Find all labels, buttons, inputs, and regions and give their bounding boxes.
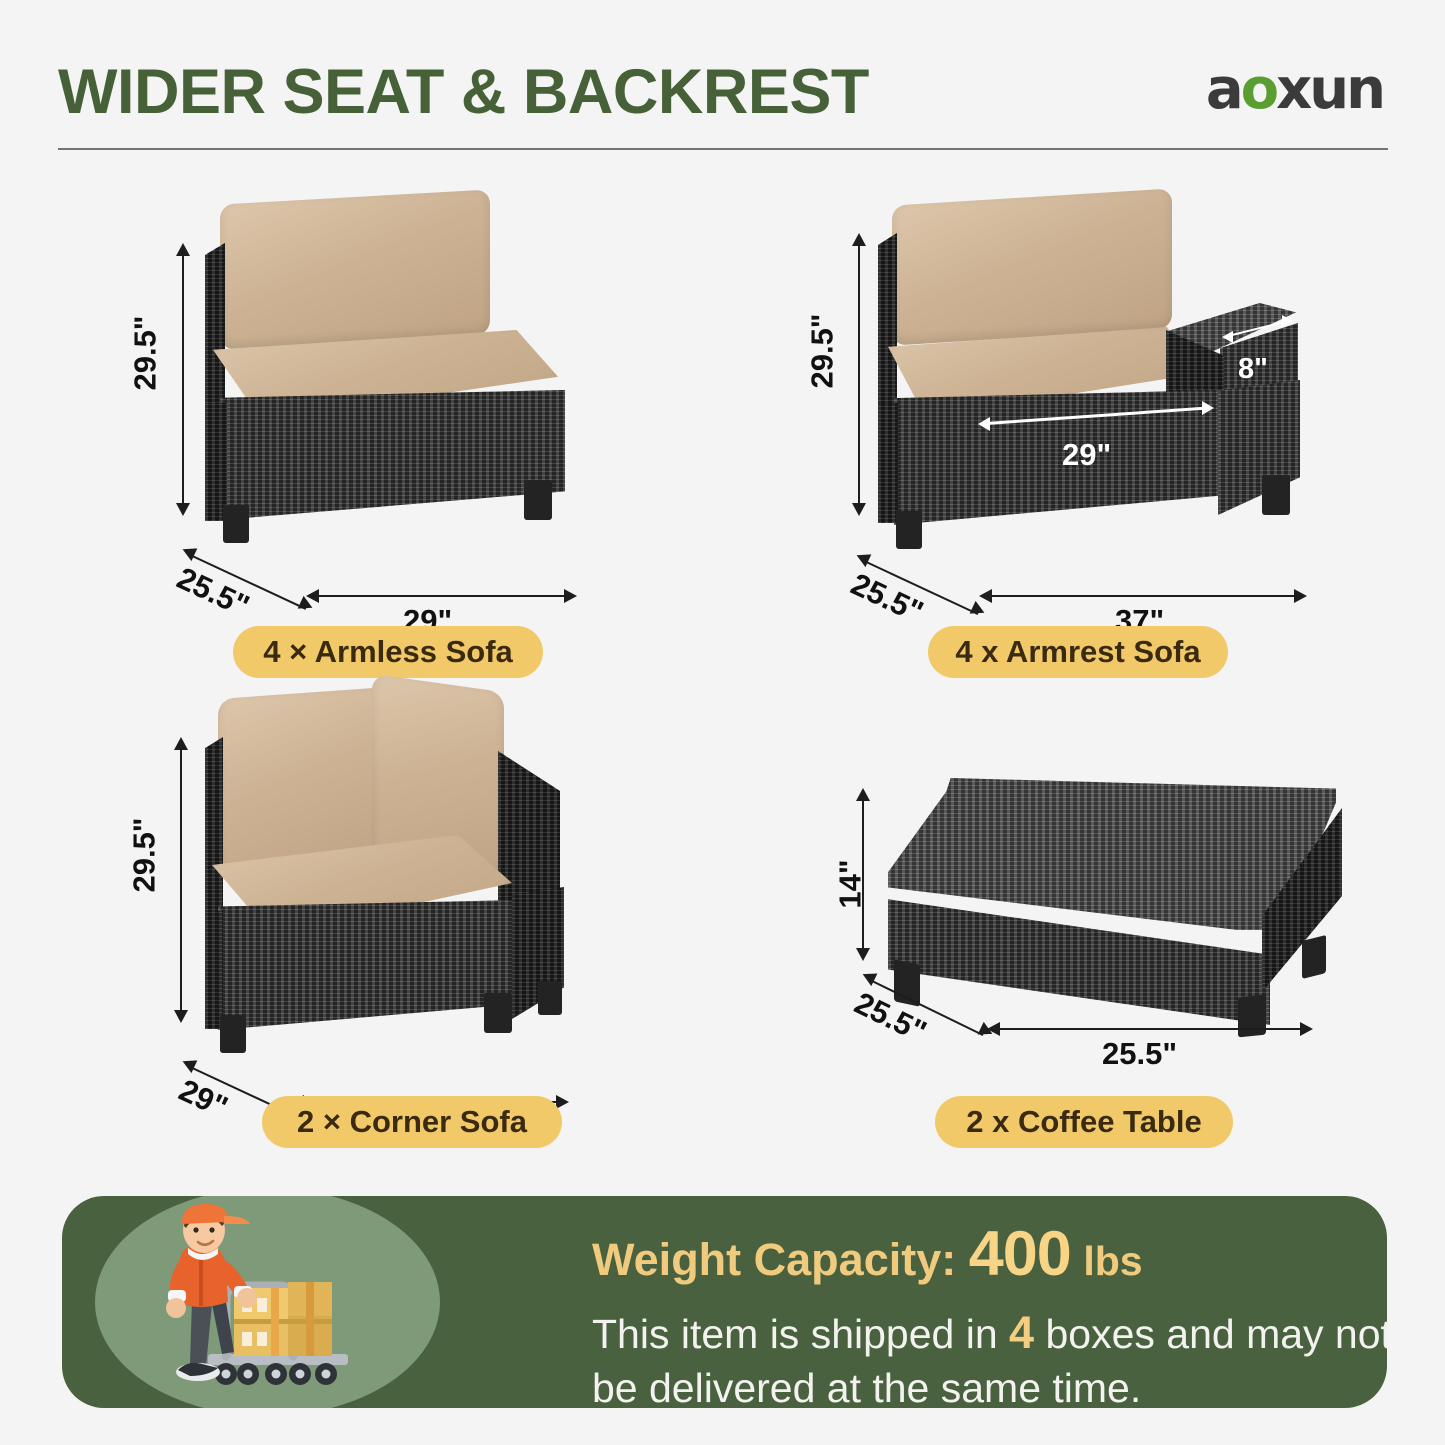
height-dim-label: 14": [833, 859, 869, 908]
depth-dim-label: 29": [173, 1065, 236, 1126]
height-arrow-top-icon: [856, 788, 870, 801]
armwidth-arrow-left-icon: [1222, 331, 1233, 343]
armless-sofa-figure: 29.5" 25.5" 29": [120, 175, 720, 685]
base-side-face: [878, 403, 898, 523]
pill-coffee-table: 2 x Coffee Table: [935, 1096, 1233, 1148]
width-arrow-right-icon: [556, 1095, 569, 1109]
back-cushion: [220, 189, 490, 349]
foot-front-left: [220, 1015, 246, 1053]
corner-sofa-figure: 29.5" 29" 29": [150, 655, 750, 1165]
weight-capacity-text: Weight Capacity: 400 lbs: [592, 1218, 1143, 1290]
width-arrow-left-icon: [979, 589, 992, 603]
weight-capacity-unit: lbs: [1083, 1238, 1142, 1284]
coffee-table-figure: 14" 25.5" 25.5": [810, 740, 1410, 1140]
frame-left-panel: [205, 737, 223, 922]
weight-capacity-value: 400: [969, 1219, 1071, 1289]
height-arrow-bottom-icon: [174, 1010, 188, 1023]
width-dim-label: 25.5": [1102, 1036, 1177, 1072]
height-dim-line: [858, 243, 860, 508]
brand-logo: aoxun: [1206, 62, 1383, 118]
height-arrow-bottom-icon: [176, 503, 190, 516]
height-dim-label: 29.5": [127, 817, 163, 892]
delivery-worker-illustration: [130, 1204, 410, 1408]
foot-right-rear: [538, 981, 562, 1015]
height-arrow-bottom-icon: [856, 948, 870, 961]
seatwidth-arrow-right-icon: [1202, 401, 1214, 415]
base-side-face: [205, 403, 227, 521]
header-divider: [58, 148, 1388, 150]
width-arrow-left-icon: [306, 589, 319, 603]
width-arrow-right-icon: [564, 589, 577, 603]
base-front-face: [218, 900, 518, 1030]
armwidth-arrow-right-icon: [1282, 315, 1293, 327]
page-title: WIDER SEAT & BACKREST: [58, 56, 869, 128]
depth-dim-label: 25.5": [849, 978, 936, 1050]
brand-logo-suffix: xun: [1276, 57, 1383, 122]
foot-right-rear: [1302, 935, 1326, 979]
width-arrow-left-icon: [987, 1022, 1000, 1036]
shipping-box-count: 4: [1009, 1307, 1034, 1358]
seatwidth-dim-label: 29": [1062, 437, 1111, 473]
pill-corner-sofa: 2 × Corner Sofa: [262, 1096, 562, 1148]
shipping-banner: Weight Capacity: 400 lbs This item is sh…: [62, 1196, 1387, 1408]
width-dim-line: [988, 595, 1300, 597]
foot-front-right: [1238, 995, 1266, 1038]
height-arrow-top-icon: [852, 233, 866, 246]
product-corner-sofa: 29.5" 29" 29": [150, 655, 750, 1165]
height-dim-line: [180, 747, 182, 1015]
armrest-sofa-figure: 29.5" 8" 29" 25.5" 37": [830, 175, 1430, 685]
width-arrow-right-icon: [1300, 1022, 1313, 1036]
height-arrow-top-icon: [176, 243, 190, 256]
height-arrow-top-icon: [174, 737, 188, 750]
depth-dim-label: 25.5": [171, 553, 258, 625]
product-armless-sofa: 29.5" 25.5" 29": [120, 175, 720, 685]
depth-dim-label: 25.5": [845, 559, 932, 631]
brand-logo-accent-letter: o: [1241, 57, 1276, 122]
shipping-note-prefix: This item is shipped in: [592, 1311, 998, 1357]
width-dim-line: [315, 595, 570, 597]
brand-logo-prefix: a: [1206, 57, 1241, 122]
foot-front-right: [524, 480, 552, 520]
product-armrest-sofa: 29.5" 8" 29" 25.5" 37": [830, 175, 1430, 685]
depth-arrow-end-icon: [970, 601, 988, 619]
height-dim-line: [182, 253, 184, 508]
weight-capacity-label: Weight Capacity:: [592, 1234, 956, 1285]
pill-armrest-sofa: 4 x Armrest Sofa: [928, 626, 1228, 678]
foot-front-left: [896, 511, 922, 549]
width-arrow-right-icon: [1294, 589, 1307, 603]
shipping-note-text: This item is shipped in 4 boxes and may …: [592, 1304, 1387, 1408]
seatwidth-arrow-left-icon: [978, 417, 990, 431]
back-cushion: [892, 188, 1172, 345]
foot-front-right: [1262, 475, 1290, 515]
height-arrow-bottom-icon: [852, 503, 866, 516]
armwidth-dim-label: 8": [1238, 353, 1268, 386]
foot-front-right: [484, 993, 512, 1033]
height-dim-label: 29.5": [805, 313, 841, 388]
height-dim-label: 29.5": [128, 315, 164, 390]
width-dim-line: [996, 1028, 1306, 1030]
base-front-face: [220, 390, 565, 520]
product-coffee-table: 14" 25.5" 25.5": [810, 740, 1410, 1140]
foot-front-left: [223, 505, 249, 543]
page-header: WIDER SEAT & BACKREST aoxun: [0, 0, 1445, 160]
base-side-face: [205, 911, 223, 1029]
